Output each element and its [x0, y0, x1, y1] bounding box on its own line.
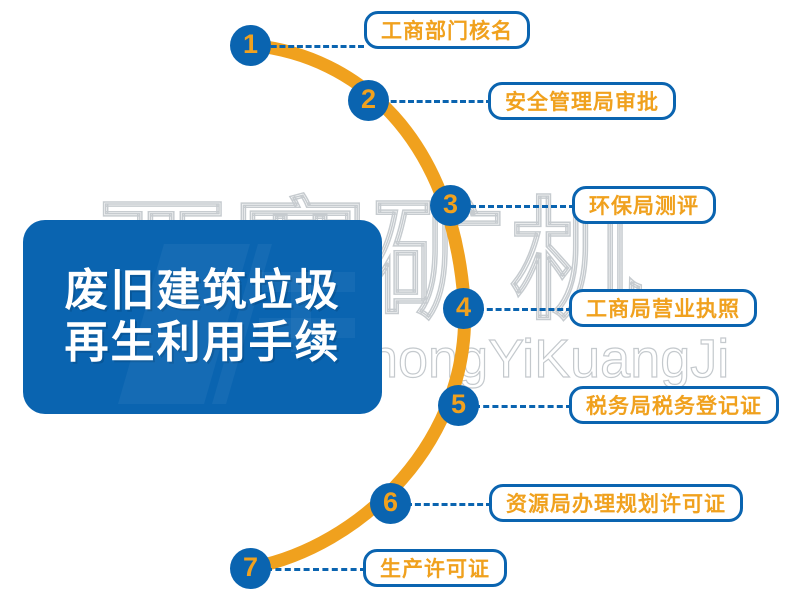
- step-node-2[interactable]: 2: [348, 80, 389, 121]
- step-node-7-number: 7: [243, 554, 258, 581]
- step-node-4[interactable]: 4: [443, 288, 484, 329]
- step-label-3[interactable]: 环保局测评: [572, 186, 716, 224]
- step-label-2[interactable]: 安全管理局审批: [488, 82, 676, 120]
- title-card: 废旧建筑垃圾 再生利用手续: [23, 220, 382, 414]
- connector-line-3: [470, 205, 575, 208]
- step-node-3[interactable]: 3: [430, 185, 471, 226]
- step-node-3-number: 3: [443, 191, 458, 218]
- connector-line-1: [262, 45, 364, 48]
- connector-line-2: [382, 100, 492, 103]
- title-line-2: 再生利用手续: [65, 317, 341, 369]
- step-node-6[interactable]: 6: [370, 483, 411, 524]
- step-node-5[interactable]: 5: [438, 385, 479, 426]
- step-label-4[interactable]: 工商局营业执照: [569, 289, 757, 327]
- connector-line-4: [478, 308, 572, 311]
- infographic-canvas: 亚骞矿机 ZOONYE ZhongYiKuangJi 废旧建筑垃圾 再生利用手续…: [0, 0, 800, 600]
- step-label-5[interactable]: 税务局税务登记证: [569, 386, 779, 424]
- step-node-1[interactable]: 1: [230, 25, 271, 66]
- title-line-1: 废旧建筑垃圾: [65, 265, 341, 317]
- step-node-6-number: 6: [383, 489, 398, 516]
- step-node-2-number: 2: [361, 86, 376, 113]
- connector-line-5: [474, 405, 572, 408]
- step-node-1-number: 1: [243, 31, 258, 58]
- connector-line-7: [266, 568, 366, 571]
- step-node-5-number: 5: [451, 391, 466, 418]
- watermark-subtitle-text: ZhongYiKuangJi: [335, 332, 729, 386]
- step-label-6[interactable]: 资源局办理规划许可证: [489, 484, 743, 522]
- step-node-7[interactable]: 7: [230, 548, 271, 589]
- step-node-4-number: 4: [456, 294, 471, 321]
- step-label-7[interactable]: 生产许可证: [363, 549, 507, 587]
- connector-line-6: [406, 503, 492, 506]
- step-label-1[interactable]: 工商部门核名: [364, 11, 530, 49]
